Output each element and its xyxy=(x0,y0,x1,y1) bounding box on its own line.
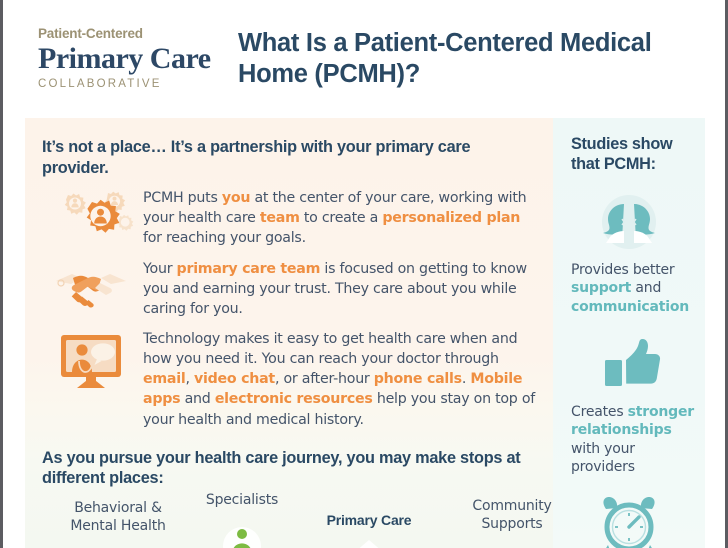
place-community-supports: Community Supports xyxy=(457,498,553,548)
window-left-edge xyxy=(0,0,3,548)
study-text: Creates stronger relationships with your… xyxy=(571,403,695,477)
logo-line-3: COLLABORATIVE xyxy=(38,78,215,91)
studies-sidebar: Studies show that PCMH: Provides better … xyxy=(553,118,705,548)
community-supports-icon xyxy=(457,540,553,548)
highlighted-term: you xyxy=(222,190,250,206)
infographic-page: Patient-Centered Primary Care COLLABORAT… xyxy=(0,0,728,548)
highlighted-term: video chat xyxy=(194,371,275,387)
gears-person-icon xyxy=(39,187,143,244)
specialist-icon xyxy=(190,516,294,548)
lead-heading: It’s not a place… It’s a partnership wit… xyxy=(42,137,533,178)
place-specialists: Specialists xyxy=(190,492,294,548)
highlighted-term: support xyxy=(571,280,631,296)
bullet-row: PCMH puts you at the center of your care… xyxy=(39,187,537,248)
place-label: Specialists xyxy=(206,492,278,508)
text-run: with your providers xyxy=(571,441,635,476)
text-run: , or after-hour xyxy=(275,371,374,387)
highlighted-term: primary care team xyxy=(177,261,321,277)
highlighted-term: communication xyxy=(571,299,689,315)
place-behavioral-health: Behavioral & Mental Health xyxy=(59,500,177,548)
text-run: Creates xyxy=(571,404,628,420)
primary-care-icon xyxy=(309,536,429,548)
study-item: Saves you time xyxy=(553,491,705,548)
thumbs-up-icon xyxy=(553,331,705,399)
text-run: PCMH puts xyxy=(143,190,222,206)
two-heads-communication-icon xyxy=(553,189,705,257)
main-content-panel: It’s not a place… It’s a partnership wit… xyxy=(25,118,553,548)
journey-heading: As you pursue your health care journey, … xyxy=(42,448,533,489)
behavioral-health-icon xyxy=(59,542,177,548)
text-run: to create a xyxy=(300,210,383,226)
place-label: Behavioral & Mental Health xyxy=(70,500,165,534)
highlighted-term: email xyxy=(143,371,185,387)
journey-places: Behavioral & Mental Health Specialists xyxy=(25,500,553,548)
logo-line-1: Patient-Centered xyxy=(38,27,215,42)
study-item: Creates stronger relationships with your… xyxy=(553,331,705,477)
bullet-text: PCMH puts you at the center of your care… xyxy=(143,187,537,248)
page-title: What Is a Patient-Centered Medical Home … xyxy=(238,28,705,90)
bullet-row: Your primary care team is focused on get… xyxy=(39,258,537,319)
alarm-clock-icon xyxy=(553,491,705,548)
place-label: Community Supports xyxy=(472,498,551,532)
highlighted-term: personalized plan xyxy=(382,210,520,226)
place-label: Primary Care xyxy=(327,512,412,528)
text-run: and xyxy=(631,280,661,296)
bullet-row: Technology makes it easy to get health c… xyxy=(39,328,537,430)
text-run: for reaching your goals. xyxy=(143,230,306,246)
study-item: Provides better support and communicatio… xyxy=(553,189,705,317)
text-run: Your xyxy=(143,261,177,277)
text-run: Technology makes it easy to get health c… xyxy=(143,331,517,367)
highlighted-term: electronic resources xyxy=(215,391,373,407)
studies-title: Studies show that PCMH: xyxy=(571,134,691,175)
page-header: Patient-Centered Primary Care COLLABORAT… xyxy=(25,0,705,118)
highlighted-term: team xyxy=(260,210,300,226)
handshake-icon xyxy=(39,258,143,311)
pcpcc-logo: Patient-Centered Primary Care COLLABORAT… xyxy=(25,27,215,91)
text-run: and xyxy=(180,391,214,407)
logo-line-2: Primary Care xyxy=(38,43,215,75)
text-run: , xyxy=(185,371,194,387)
telehealth-monitor-icon xyxy=(39,328,143,393)
place-primary-care: Primary Care xyxy=(309,512,429,548)
bullet-text: Your primary care team is focused on get… xyxy=(143,258,537,319)
bullet-text: Technology makes it easy to get health c… xyxy=(143,328,537,430)
study-text: Provides better support and communicatio… xyxy=(571,261,695,317)
highlighted-term: phone calls xyxy=(374,371,462,387)
text-run: Provides better xyxy=(571,262,674,278)
